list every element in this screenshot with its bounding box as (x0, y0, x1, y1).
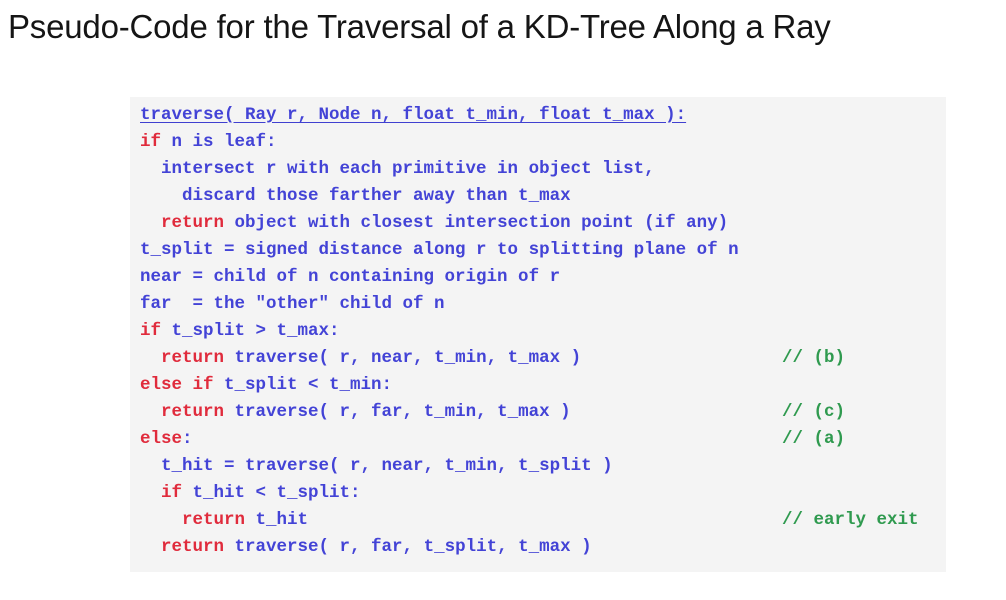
line-t-split: t_split = signed distance along r to spl… (130, 237, 946, 264)
code-segment-keyword: return (161, 537, 224, 557)
code-segment-code: traverse( Ray r, Node n, float t_min, fl… (140, 105, 686, 125)
code-segment-code: t_hit = traverse( r, near, t_min, t_spli… (140, 456, 613, 476)
code-line-text: intersect r with each primitive in objec… (140, 159, 655, 179)
code-segment-keyword: return (182, 510, 245, 530)
line-return-far-split: return traverse( r, far, t_split, t_max … (130, 534, 946, 561)
line-if-leaf: if n is leaf: (130, 129, 946, 156)
code-segment-code (140, 510, 182, 530)
code-segment-keyword: if (140, 321, 161, 341)
code-segment-keyword: if (161, 483, 182, 503)
line-return-object: return object with closest intersection … (130, 210, 946, 237)
code-line-text: else: (140, 429, 193, 449)
line-discard: discard those farther away than t_max (130, 183, 946, 210)
code-segment-code: traverse( r, far, t_split, t_max ) (224, 537, 592, 557)
code-segment-code: traverse( r, far, t_min, t_max ) (224, 402, 571, 422)
code-segment-keyword: return (161, 213, 224, 233)
code-line-text: return object with closest intersection … (140, 213, 728, 233)
code-comment: // (b) (782, 345, 845, 372)
code-segment-code (140, 402, 161, 422)
code-line-text: return t_hit (140, 510, 308, 530)
line-else: else:// (a) (130, 426, 946, 453)
line-if-thit-lt-tsplit: if t_hit < t_split: (130, 480, 946, 507)
code-segment-code: t_hit < t_split: (182, 483, 361, 503)
code-line-list: traverse( Ray r, Node n, float t_min, fl… (130, 102, 946, 561)
code-line-text: near = child of n containing origin of r (140, 267, 560, 287)
code-line-text: far = the "other" child of n (140, 294, 445, 314)
code-segment-code: intersect r with each primitive in objec… (140, 159, 655, 179)
code-segment-code: t_hit (245, 510, 308, 530)
code-line-text: if n is leaf: (140, 132, 277, 152)
code-segment-code (140, 213, 161, 233)
line-signature: traverse( Ray r, Node n, float t_min, fl… (130, 102, 946, 129)
code-segment-code: traverse( r, near, t_min, t_max ) (224, 348, 581, 368)
code-segment-keyword: return (161, 402, 224, 422)
code-segment-code (140, 537, 161, 557)
slide-canvas: Pseudo-Code for the Traversal of a KD-Tr… (0, 0, 1006, 600)
line-return-near: return traverse( r, near, t_min, t_max )… (130, 345, 946, 372)
code-segment-code: : (182, 429, 193, 449)
code-segment-code: far = the "other" child of n (140, 294, 445, 314)
line-else-if-lt-tmin: else if t_split < t_min: (130, 372, 946, 399)
code-segment-code: t_split = signed distance along r to spl… (140, 240, 739, 260)
line-if-gt-tmax: if t_split > t_max: (130, 318, 946, 345)
line-t-hit-assign: t_hit = traverse( r, near, t_min, t_spli… (130, 453, 946, 480)
code-segment-code: object with closest intersection point (… (224, 213, 728, 233)
code-line-text: t_hit = traverse( r, near, t_min, t_spli… (140, 456, 613, 476)
code-segment-code (140, 483, 161, 503)
code-segment-code: n is leaf: (161, 132, 277, 152)
code-line-text: traverse( Ray r, Node n, float t_min, fl… (140, 105, 686, 125)
code-line-text: discard those farther away than t_max (140, 186, 571, 206)
code-segment-keyword: return (161, 348, 224, 368)
code-segment-keyword: else if (140, 375, 214, 395)
code-line-text: if t_split > t_max: (140, 321, 340, 341)
code-segment-keyword: if (140, 132, 161, 152)
pseudo-code-block: traverse( Ray r, Node n, float t_min, fl… (130, 97, 946, 572)
page-title: Pseudo-Code for the Traversal of a KD-Tr… (8, 8, 998, 46)
code-comment: // (c) (782, 399, 845, 426)
code-line-text: if t_hit < t_split: (140, 483, 361, 503)
code-comment: // (a) (782, 426, 845, 453)
code-comment: // early exit (782, 507, 919, 534)
code-line-text: return traverse( r, near, t_min, t_max ) (140, 348, 581, 368)
line-far: far = the "other" child of n (130, 291, 946, 318)
code-segment-keyword: else (140, 429, 182, 449)
code-segment-code: t_split > t_max: (161, 321, 340, 341)
line-near: near = child of n containing origin of r (130, 264, 946, 291)
line-return-t-hit: return t_hit// early exit (130, 507, 946, 534)
line-intersect: intersect r with each primitive in objec… (130, 156, 946, 183)
code-segment-code: near = child of n containing origin of r (140, 267, 560, 287)
code-line-text: return traverse( r, far, t_min, t_max ) (140, 402, 571, 422)
code-segment-code (140, 348, 161, 368)
code-segment-code: t_split < t_min: (214, 375, 393, 395)
code-line-text: t_split = signed distance along r to spl… (140, 240, 739, 260)
code-line-text: else if t_split < t_min: (140, 375, 392, 395)
code-segment-code: discard those farther away than t_max (140, 186, 571, 206)
code-line-text: return traverse( r, far, t_split, t_max … (140, 537, 592, 557)
line-return-far: return traverse( r, far, t_min, t_max )/… (130, 399, 946, 426)
